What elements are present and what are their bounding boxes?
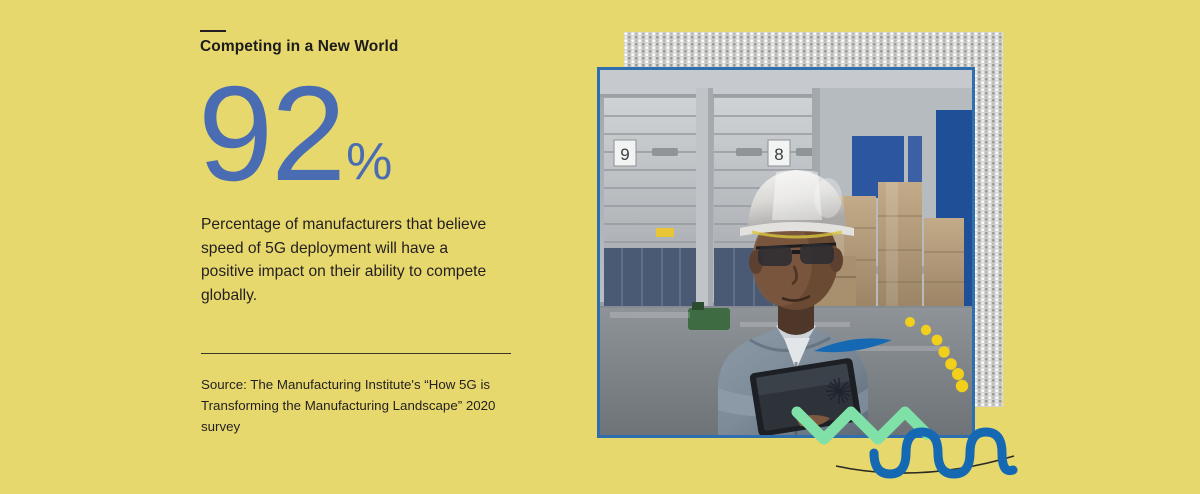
infographic-canvas: Competing in a New World 92 % Percentage… — [0, 0, 1200, 494]
warehouse-scene-illustration: 9 — [600, 70, 972, 435]
hero-photo: 9 — [597, 67, 975, 438]
photo-collage: 9 — [0, 0, 1200, 494]
svg-text:9: 9 — [620, 145, 629, 164]
thin-arc-icon — [836, 456, 1014, 473]
svg-text:8: 8 — [774, 145, 783, 164]
sine-wave-icon — [874, 432, 1013, 474]
